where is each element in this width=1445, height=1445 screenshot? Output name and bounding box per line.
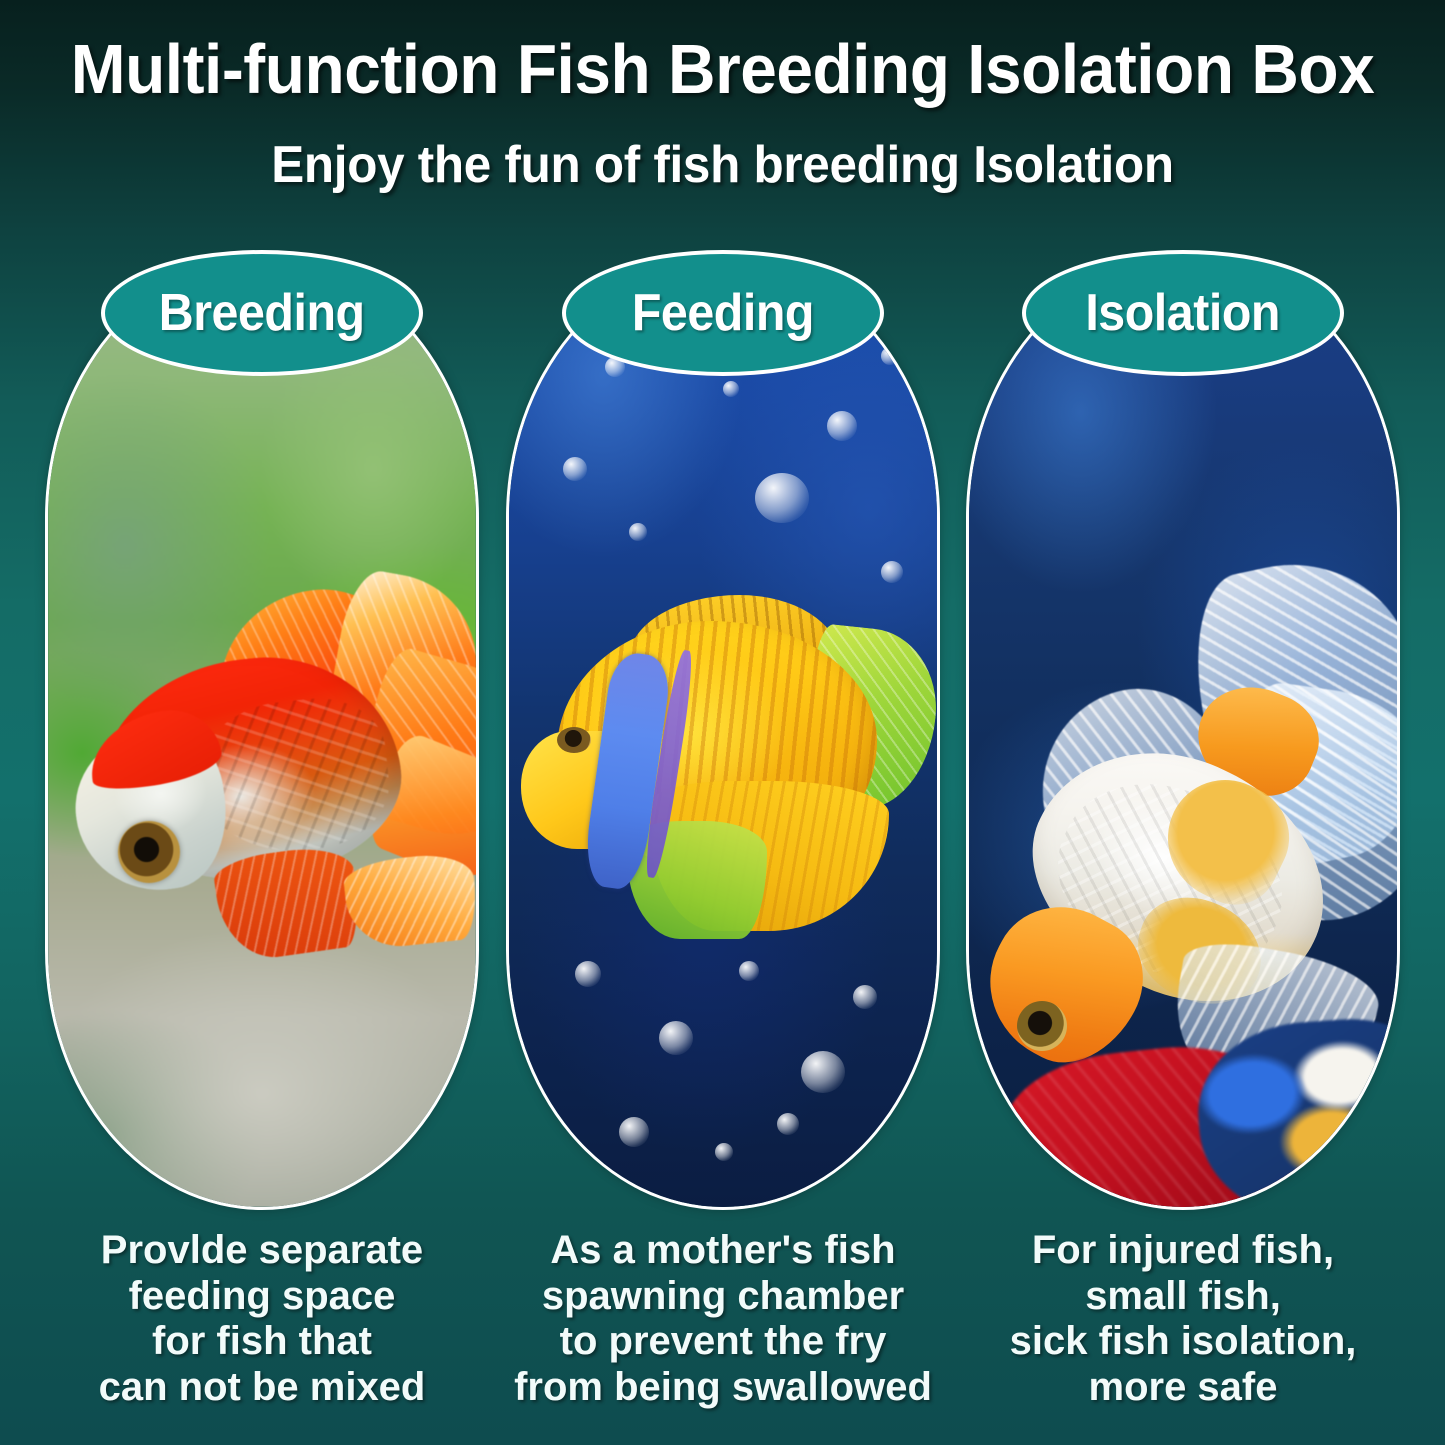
badge-label: Feeding (632, 287, 814, 339)
goldfish-eye (118, 821, 180, 883)
caption-line: As a mother's fish (488, 1228, 958, 1274)
panel-card-isolation (966, 258, 1400, 1210)
product-poster: Multi-function Fish Breeding Isolation B… (0, 0, 1445, 1445)
feature-panel-isolation[interactable]: Isolation (966, 258, 1400, 1210)
bubble (881, 347, 899, 365)
aquarium-scene-deep-blue (969, 261, 1397, 1207)
bubble (827, 411, 857, 441)
page-subtitle: Enjoy the fun of fish breeding Isolation (36, 135, 1409, 195)
bubble (881, 561, 903, 583)
caption-line: feeding space (27, 1274, 497, 1320)
bubble (575, 961, 601, 987)
panel-card-feeding (506, 258, 940, 1210)
bubble (563, 457, 587, 481)
caption-line: for fish that (27, 1319, 497, 1365)
bubble (715, 1143, 733, 1161)
caption-line: For injured fish, (948, 1228, 1418, 1274)
fantail-eye (1017, 1001, 1067, 1051)
caption-line: small fish, (948, 1274, 1418, 1320)
bubble (853, 985, 877, 1009)
panel-card-breeding (45, 258, 479, 1210)
aquarium-scene-blue-bubbles (509, 261, 937, 1207)
butterflyfish-eye (557, 727, 591, 753)
bubble (629, 523, 647, 541)
badge-label: Isolation (1086, 287, 1281, 339)
caption-isolation: For injured fish, small fish, sick fish … (948, 1228, 1418, 1410)
goldfish-pectoral-fin (342, 850, 479, 951)
caption-line: from being swallowed (488, 1365, 958, 1411)
bubble (723, 381, 739, 397)
caption-line: more safe (948, 1365, 1418, 1411)
bubble (777, 1113, 799, 1135)
badge-isolation[interactable]: Isolation (1022, 250, 1344, 376)
caption-line: to prevent the fry (488, 1319, 958, 1365)
caption-line: can not be mixed (27, 1365, 497, 1411)
caption-feeding: As a mother's fish spawning chamber to p… (488, 1228, 958, 1410)
page-title: Multi-function Fish Breeding Isolation B… (43, 34, 1401, 105)
caption-breeding: Provlde separate feeding space for fish … (27, 1228, 497, 1410)
badge-label: Breeding (159, 287, 365, 339)
bubble (739, 961, 759, 981)
feature-panel-feeding[interactable]: Feeding (506, 258, 940, 1210)
bubble (801, 1051, 845, 1093)
caption-line: sick fish isolation, (948, 1319, 1418, 1365)
feature-panel-breeding[interactable]: Breeding (45, 258, 479, 1210)
aquarium-scene-green (48, 261, 476, 1207)
bubble (659, 1021, 693, 1055)
badge-feeding[interactable]: Feeding (562, 250, 884, 376)
caption-line: spawning chamber (488, 1274, 958, 1320)
bubble (755, 473, 809, 523)
bubble (619, 1117, 649, 1147)
feature-panels: Breeding (0, 258, 1445, 1218)
caption-line: Provlde separate (27, 1228, 497, 1274)
badge-breeding[interactable]: Breeding (101, 250, 423, 376)
